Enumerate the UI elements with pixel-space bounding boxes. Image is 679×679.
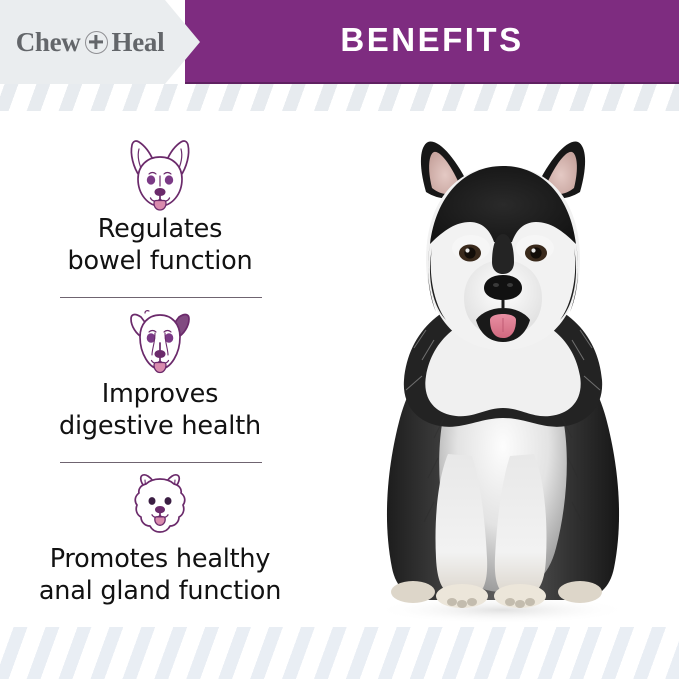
page-title: BENEFITS [185,0,679,84]
fluffy-dog-face-icon [0,465,320,543]
benefit-text-1: Regulates bowel function [0,213,320,277]
benefit-line-2a: Improves [102,379,219,409]
benefit-line-3b: anal gland function [39,576,281,606]
corgi-dog-face-icon [0,135,320,213]
benefit-line-1a: Regulates [98,214,223,244]
brand-logo: Chew Heal [0,0,180,84]
header-banner: BENEFITS Chew Heal [0,0,679,84]
benefits-infographic: BENEFITS Chew Heal [0,0,679,679]
benefits-list: Regulates bowel function [0,120,320,620]
divider-2 [60,462,262,463]
benefit-text-3: Promotes healthy anal gland function [0,543,320,607]
diagonal-stripe-band-bottom [0,627,679,679]
benefit-item-1: Regulates bowel function [0,135,320,277]
benefit-line-1b: bowel function [68,246,253,276]
brand-name-second: Heal [112,29,165,56]
brand-name-first: Chew [16,29,81,56]
diagonal-stripe-band-top [0,84,679,111]
benefit-text-2: Improves digestive health [0,378,320,442]
benefit-item-3: Promotes healthy anal gland function [0,465,320,607]
husky-dog-sitting-photo [330,118,679,630]
divider-1 [60,297,262,298]
benefit-line-2b: digestive health [59,411,261,441]
terrier-dog-face-icon [0,300,320,378]
benefit-item-2: Improves digestive health [0,300,320,442]
benefit-line-3a: Promotes healthy [50,544,271,574]
circled-plus-icon [85,31,108,54]
